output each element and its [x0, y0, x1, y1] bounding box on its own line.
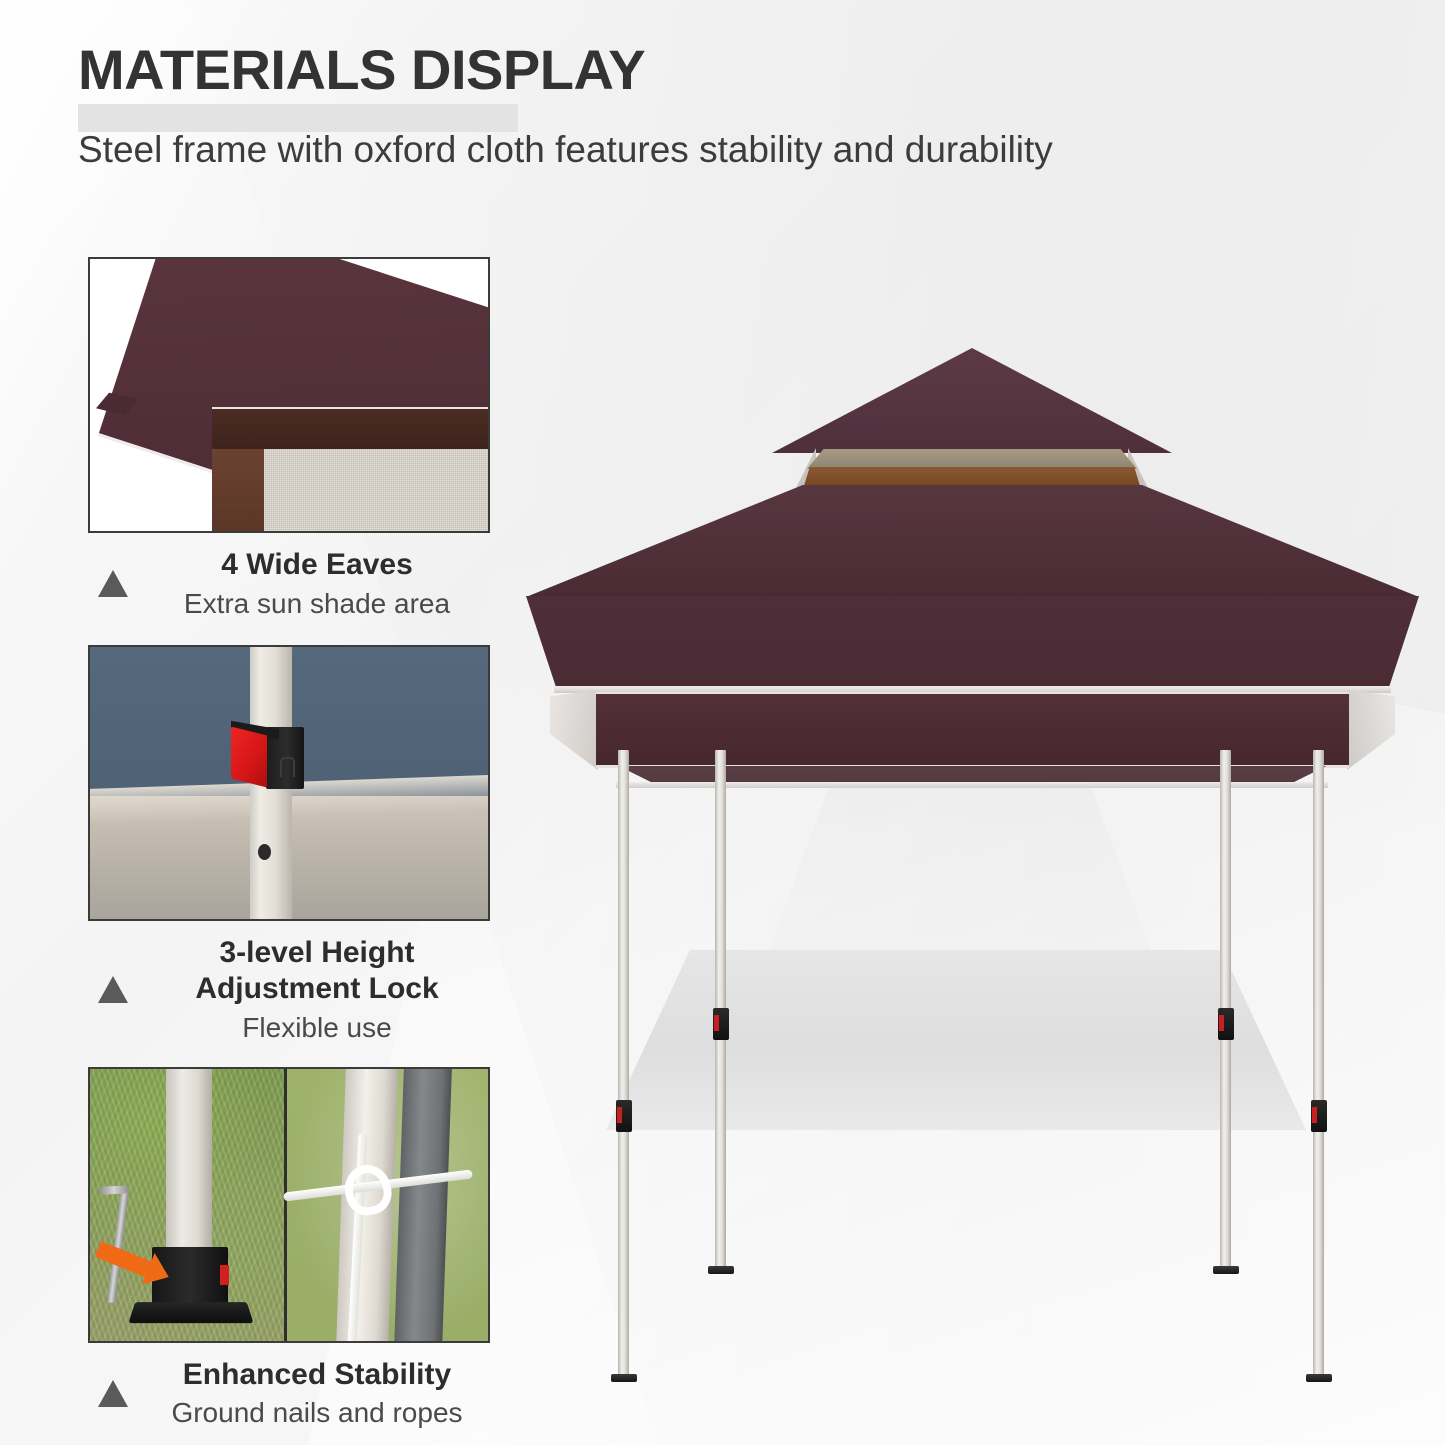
canopy-main-roof	[526, 485, 1419, 597]
eave-corner-post	[212, 449, 264, 533]
triangle-marker-icon	[98, 976, 128, 1003]
triangle-marker-icon	[98, 570, 128, 597]
stability-scene	[90, 1069, 488, 1341]
canopy-valance-side-left	[550, 690, 598, 770]
leg-lock-collar	[616, 1100, 632, 1132]
foot-red-accent	[220, 1265, 229, 1285]
rope-photo-half	[284, 1069, 488, 1341]
page-title: MATERIALS DISPLAY	[78, 40, 645, 100]
feature-subtitle: Flexible use	[142, 1010, 492, 1045]
feature-title: 4 Wide Eaves	[142, 547, 492, 584]
lock-scene	[90, 647, 488, 919]
canopy-valance-side-right	[1347, 690, 1395, 770]
feature-subtitle: Ground nails and ropes	[142, 1395, 492, 1430]
feature-item-stability: Enhanced Stability Ground nails and rope…	[88, 1067, 492, 1431]
infographic-page: MATERIALS DISPLAY Steel frame with oxfor…	[0, 0, 1445, 1445]
feature-caption: 4 Wide Eaves Extra sun shade area	[88, 547, 492, 621]
canopy-vent-upper-strip	[807, 449, 1137, 469]
eave-scene	[90, 259, 488, 531]
eave-mesh-panel	[264, 449, 490, 533]
leg-lock-collar	[1218, 1008, 1234, 1040]
pole-base-plate	[128, 1302, 253, 1323]
lock-red-lever	[231, 726, 267, 787]
height-adjustment-lock-photo	[88, 645, 490, 921]
stability-pole	[166, 1067, 212, 1277]
eave-valance-band	[212, 407, 490, 452]
triangle-marker-icon	[98, 1380, 128, 1407]
product-floor-plane	[606, 950, 1306, 1130]
feature-subtitle: Extra sun shade area	[142, 586, 492, 621]
feature-title: Enhanced Stability	[142, 1357, 492, 1394]
ground-nail-and-rope-photo	[88, 1067, 490, 1343]
feature-list: 4 Wide Eaves Extra sun shade area	[88, 257, 492, 1430]
canopy-eave-closeup-photo	[88, 257, 490, 533]
feature-caption: Enhanced Stability Ground nails and rope…	[88, 1357, 492, 1431]
canopy-valance-band	[596, 692, 1349, 768]
ground-nail-photo-half	[90, 1069, 284, 1341]
leg-foot-pad	[611, 1374, 637, 1382]
feature-caption: 3-level Height Adjustment Lock Flexible …	[88, 935, 492, 1045]
canopy-upper-roof	[772, 348, 1172, 453]
title-highlight-bar	[78, 104, 518, 132]
header: MATERIALS DISPLAY Steel frame with oxfor…	[78, 40, 1178, 173]
feature-title-line2: Adjustment Lock	[142, 971, 492, 1008]
leg-foot-pad	[708, 1266, 734, 1274]
feature-title-line1: 3-level Height	[142, 935, 492, 972]
canopy-leg-front-left	[618, 750, 629, 1378]
pop-up-gazebo-canopy-render	[520, 330, 1425, 1120]
leg-lock-collar	[1311, 1100, 1327, 1132]
page-subtitle: Steel frame with oxford cloth features s…	[78, 128, 1178, 172]
leg-lock-collar	[713, 1008, 729, 1040]
rope-pole-shadow-side	[394, 1067, 452, 1343]
leg-foot-pad	[1213, 1266, 1239, 1274]
caption-text: Enhanced Stability Ground nails and rope…	[142, 1357, 492, 1431]
feature-item-height-lock: 3-level Height Adjustment Lock Flexible …	[88, 645, 492, 1045]
caption-text: 4 Wide Eaves Extra sun shade area	[142, 547, 492, 621]
canopy-main-roof-lower	[526, 596, 1419, 691]
caption-text: 3-level Height Adjustment Lock Flexible …	[142, 935, 492, 1045]
leg-foot-pad	[1306, 1374, 1332, 1382]
orange-arrow-icon	[95, 1241, 153, 1278]
feature-item-wide-eaves: 4 Wide Eaves Extra sun shade area	[88, 257, 492, 621]
lock-pin-hole	[258, 844, 271, 860]
canopy-leg-front-right	[1313, 750, 1324, 1378]
title-wrapper: MATERIALS DISPLAY	[78, 40, 645, 100]
